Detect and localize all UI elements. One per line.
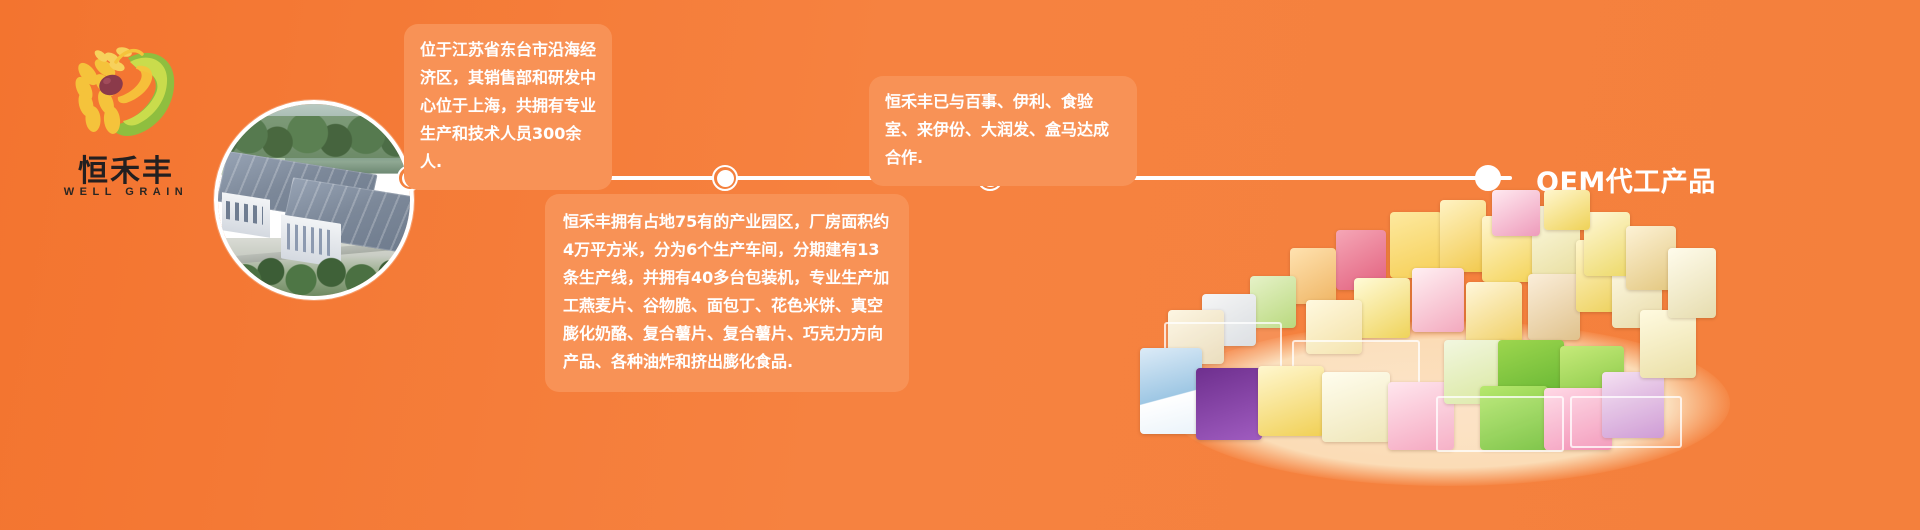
banner-background: 恒禾丰 WELL GRAIN 位于江苏省东台市沿海经济区，其销售部和研发中心位于… — [0, 0, 1920, 530]
info-bubble-partners: 恒禾丰已与百事、伊利、食验室、来伊份、大润发、盒马达成合作. — [869, 76, 1137, 186]
timeline-node-4[interactable] — [1475, 165, 1501, 191]
timeline-node-2[interactable] — [712, 165, 738, 191]
info-bubble-facility: 恒禾丰拥有占地75有的产业园区，厂房面积约4万平方米，分为6个生产车间，分期建有… — [545, 194, 909, 392]
wheat-heart-logo-icon — [54, 38, 184, 143]
brand-name-en: WELL GRAIN — [36, 186, 216, 198]
brand-logo: 恒禾丰 WELL GRAIN — [36, 38, 216, 213]
brand-name-cn: 恒禾丰 — [36, 146, 216, 190]
products-photo — [1140, 190, 1760, 500]
factory-photo — [214, 100, 414, 300]
products-pile — [1140, 190, 1760, 490]
info-bubble-location: 位于江苏省东台市沿海经济区，其销售部和研发中心位于上海，共拥有专业生产和技术人员… — [404, 24, 612, 190]
